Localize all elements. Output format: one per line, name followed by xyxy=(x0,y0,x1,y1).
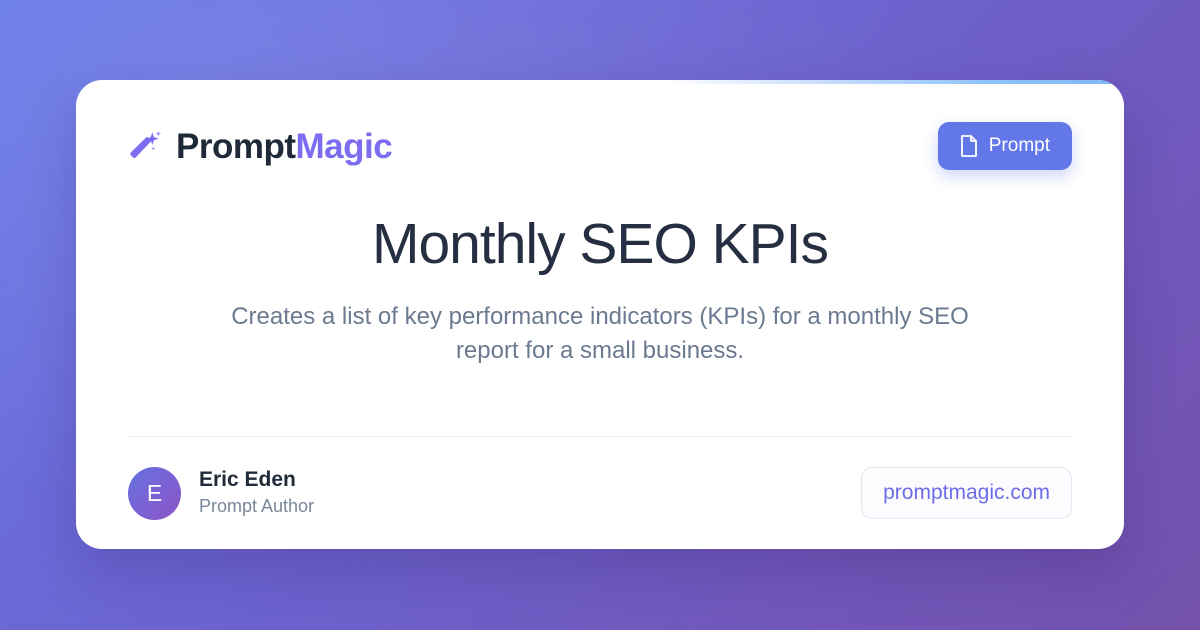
prompt-button-label: Prompt xyxy=(989,135,1050,157)
document-icon xyxy=(960,135,978,157)
brand-name-prompt: Prompt xyxy=(176,127,296,166)
card-footer: E Eric Eden Prompt Author promptmagic.co… xyxy=(128,437,1072,549)
prompt-button[interactable]: Prompt xyxy=(938,122,1072,170)
url-badge[interactable]: promptmagic.com xyxy=(861,467,1072,519)
page-title: Monthly SEO KPIs xyxy=(372,214,828,276)
card-header: PromptMagic Prompt xyxy=(128,122,1072,170)
brand-logo[interactable]: PromptMagic xyxy=(128,129,392,164)
brand-name-magic: Magic xyxy=(296,127,393,166)
magic-wand-icon xyxy=(128,129,162,163)
card-body: Monthly SEO KPIs Creates a list of key p… xyxy=(128,170,1072,436)
avatar: E xyxy=(128,467,181,520)
author-details: Eric Eden Prompt Author xyxy=(199,467,314,519)
author-role: Prompt Author xyxy=(199,495,314,518)
preview-card: PromptMagic Prompt Monthly SEO KPIs Crea… xyxy=(76,80,1124,549)
card-content: PromptMagic Prompt Monthly SEO KPIs Crea… xyxy=(76,80,1124,549)
brand-name: PromptMagic xyxy=(176,129,392,164)
author-block: E Eric Eden Prompt Author xyxy=(128,467,314,520)
author-name: Eric Eden xyxy=(199,467,314,493)
page-subtitle: Creates a list of key performance indica… xyxy=(220,300,980,368)
